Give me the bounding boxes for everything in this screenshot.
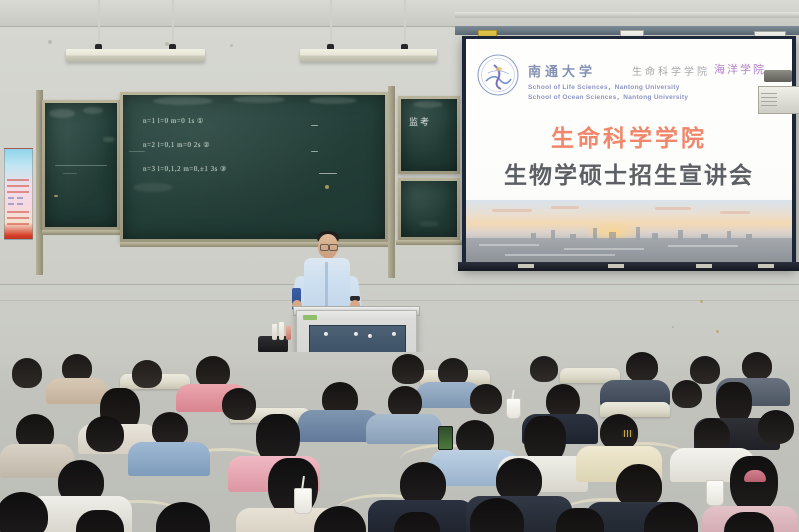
chalk-line-1: n=1 l=0 m=0 1s ① (143, 117, 204, 125)
slide-header-college: 生命科学学院 (632, 63, 710, 78)
pink-cap (744, 470, 766, 482)
audience-head (742, 352, 772, 380)
lamp-wire (404, 0, 406, 46)
hanging-fluorescent-lamp (66, 49, 205, 62)
audience-head (626, 352, 658, 382)
slide-title-line-2: 生物学硕士招生宣讲会 (466, 156, 792, 190)
paper-cup (506, 398, 521, 419)
audience-head (694, 418, 730, 452)
slide-header-en-life: School of Life Sciences，Nantong Universi… (528, 81, 680, 91)
audience-shoulders (366, 414, 442, 444)
hair-clip (622, 430, 633, 437)
slide-header-en-ocean: School of Ocean Sciences，Nantong Univers… (528, 91, 688, 101)
chalkboard-right-lower (398, 178, 460, 240)
wall-seam (0, 300, 799, 301)
slide-header-ocean-college: 海洋学院 (714, 61, 766, 77)
chalk-tray (396, 240, 462, 245)
projection-screen: 南通大学 生命科学学院 海洋学院 School of Life Sciences… (462, 36, 796, 268)
smartphone[interactable] (438, 426, 453, 450)
paper-cup (294, 488, 312, 514)
chalk-line-2: n=2 l=0,1 m=0 2s ② (143, 141, 210, 149)
audience-head (132, 360, 162, 388)
paper-cup (706, 480, 724, 506)
audience-head (530, 356, 558, 382)
audience-head (690, 356, 720, 384)
bottle (272, 324, 277, 340)
wall-speck (672, 326, 674, 328)
audience-head (470, 384, 502, 414)
wall-seam (0, 284, 799, 285)
slide-skyline-photo (466, 200, 792, 262)
audience-head (672, 380, 702, 408)
audience-ponytail (556, 508, 604, 532)
podium-label (303, 315, 317, 320)
chalkboard-left-panel (42, 100, 120, 230)
chalkboard-main-panel: n=1 l=0 m=0 1s ① n=2 l=0,1 m=0 2s ② n=3 … (120, 92, 388, 242)
audience-shoulders (46, 378, 108, 404)
audience-head (392, 354, 424, 384)
chalk-line-3: n=3 l=0,1,2 m=0,±1 3s ③ (143, 165, 227, 173)
wall-speck (716, 330, 719, 333)
chalk-right-note: 监考 (409, 115, 431, 128)
bottle (286, 326, 291, 340)
audience-head (86, 416, 124, 452)
slide-header-university: 南通大学 (528, 61, 596, 80)
wall-speck (700, 300, 703, 303)
chalk-tray (120, 242, 388, 247)
audience-ponytail (76, 510, 124, 532)
slide-surface: 南通大学 生命科学学院 海洋学院 School of Life Sciences… (466, 39, 792, 262)
lamp-wire (172, 0, 174, 46)
lamp-wire (98, 0, 100, 46)
ground-plane (466, 238, 792, 262)
nantong-university-emblem-icon (476, 53, 520, 97)
audience-head (546, 384, 580, 418)
hanging-fluorescent-lamp (300, 49, 437, 62)
audience-head (222, 388, 256, 420)
projector-mount-arm (764, 70, 792, 82)
audience-head (12, 358, 42, 388)
wall-speck (230, 44, 233, 47)
lecture-hall-photo: n=1 l=0 m=0 1s ① n=2 l=0,1 m=0 2s ② n=3 … (0, 0, 799, 532)
chalkboard-right-upper: 监考 (398, 96, 460, 174)
lamp-wire (330, 0, 332, 46)
chalkboard-post (388, 86, 395, 278)
wall-speck (48, 40, 52, 44)
slide-title-line-1: 生命科学学院 (466, 119, 792, 153)
screen-bottom-frame (458, 262, 799, 271)
wall-poster-schedule (4, 148, 33, 240)
audience-head (758, 410, 794, 444)
seated-student-audience (0, 352, 799, 532)
ceiling-rail (455, 12, 799, 18)
air-conditioner-unit (758, 86, 799, 114)
audience-shoulders (128, 442, 210, 476)
chalk-tray (42, 230, 120, 235)
bottle (279, 322, 284, 340)
audience-head (152, 412, 188, 446)
